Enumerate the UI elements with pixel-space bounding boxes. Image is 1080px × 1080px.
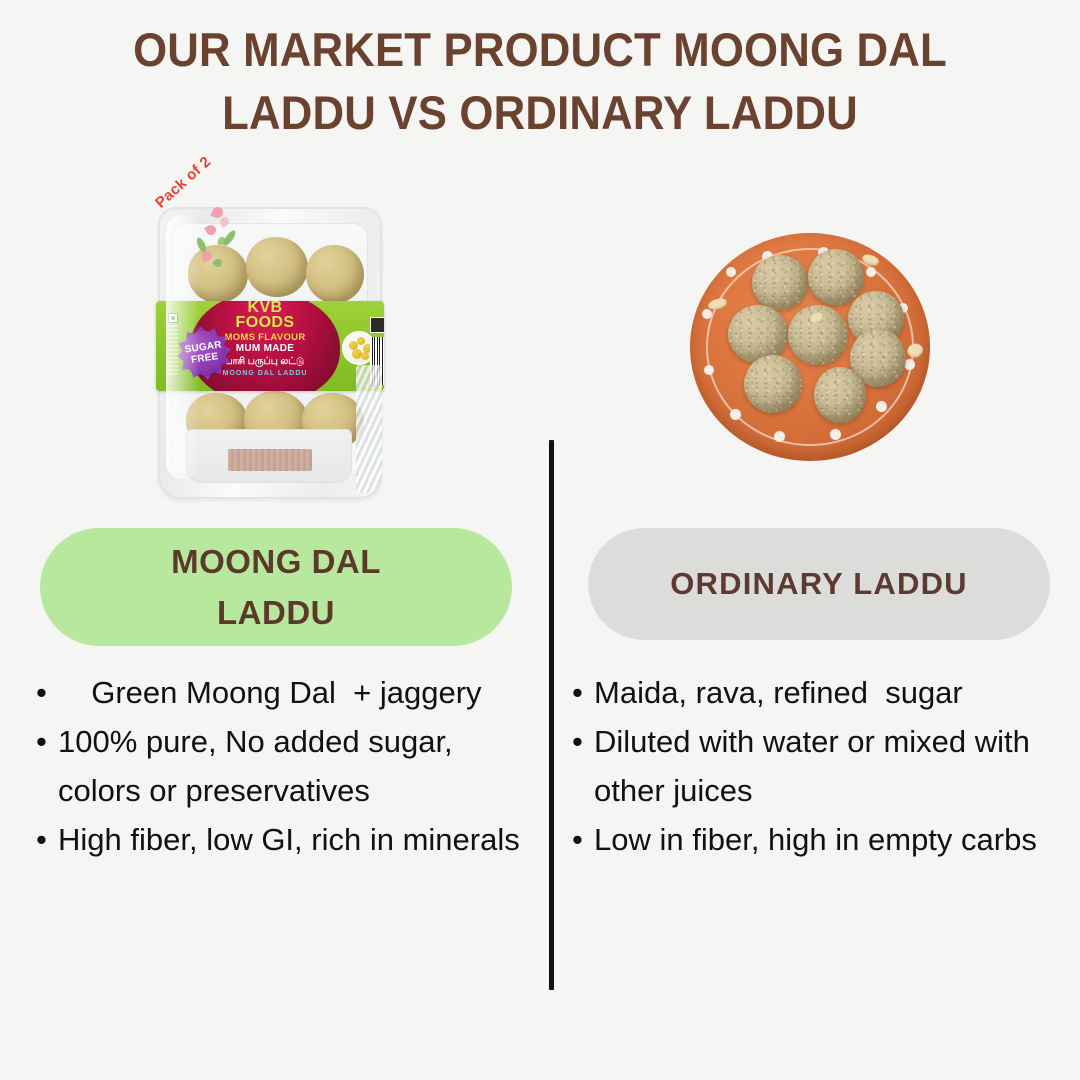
tray-highlight xyxy=(166,215,200,479)
pill-right-label: ORDINARY LADDU xyxy=(670,566,968,602)
tray-ridges xyxy=(356,365,382,493)
moong-dal-laddu-benefits-list: • Green Moong Dal + jaggery • 100% pure,… xyxy=(36,668,541,864)
ordinary-laddu-plate-image xyxy=(690,233,930,468)
bullet-icon: • xyxy=(36,668,58,717)
list-item: • Maida, rava, refined sugar xyxy=(572,668,1077,717)
list-item: • High fiber, low GI, rich in minerals xyxy=(36,815,541,864)
vertical-divider xyxy=(549,440,554,990)
page-title: OUR MARKET PRODUCT MOONG DAL LADDU VS OR… xyxy=(94,18,987,145)
list-item: • 100% pure, No added sugar, colors or p… xyxy=(36,717,541,815)
list-item: • Low in fiber, high in empty carbs xyxy=(572,815,1077,864)
plate-laddu xyxy=(808,249,864,305)
bullet-icon: • xyxy=(572,717,594,766)
pill-left-line-2: LADDU xyxy=(171,587,381,638)
list-item: • Diluted with water or mixed with other… xyxy=(572,717,1077,815)
plate-laddu xyxy=(744,355,802,413)
tray-absorbent-pad xyxy=(228,449,312,471)
page-title-line-2: LADDU VS ORDINARY LADDU xyxy=(94,81,987,144)
plate-laddu xyxy=(752,255,808,310)
ordinary-laddu-heading-pill: ORDINARY LADDU xyxy=(588,528,1050,640)
list-item-text: High fiber, low GI, rich in minerals xyxy=(58,815,541,864)
bullet-icon: • xyxy=(36,717,58,766)
brand-name: KVB FOODS xyxy=(190,301,340,330)
list-item-text: Low in fiber, high in empty carbs xyxy=(594,815,1077,864)
list-item-text: Maida, rava, refined sugar xyxy=(594,668,1077,717)
moong-dal-laddu-heading-pill: MOONG DAL LADDU xyxy=(40,528,512,646)
floral-decoration-icon xyxy=(196,203,242,279)
plate-laddu xyxy=(814,367,866,423)
page-title-line-1: OUR MARKET PRODUCT MOONG DAL xyxy=(94,18,987,81)
ordinary-laddu-drawbacks-list: • Maida, rava, refined sugar • Diluted w… xyxy=(572,668,1077,864)
pill-left-line-1: MOONG DAL xyxy=(171,536,381,587)
package-laddu xyxy=(246,237,308,297)
list-item-text: Green Moong Dal + jaggery xyxy=(58,668,541,717)
list-item: • Green Moong Dal + jaggery xyxy=(36,668,541,717)
list-item-text: 100% pure, No added sugar, colors or pre… xyxy=(58,717,541,815)
bullet-icon: • xyxy=(572,668,594,717)
moong-dal-laddu-package-image: KVB FOODS MOMS FLAVOUR MUM MADE பாசி பரு… xyxy=(150,197,390,507)
label-info-tag xyxy=(370,317,384,333)
package-laddu xyxy=(306,245,364,303)
bullet-icon: • xyxy=(572,815,594,864)
list-item-text: Diluted with water or mixed with other j… xyxy=(594,717,1077,815)
plate-laddu xyxy=(728,305,788,363)
infographic-canvas: OUR MARKET PRODUCT MOONG DAL LADDU VS OR… xyxy=(0,0,1080,1080)
bullet-icon: • xyxy=(36,815,58,864)
